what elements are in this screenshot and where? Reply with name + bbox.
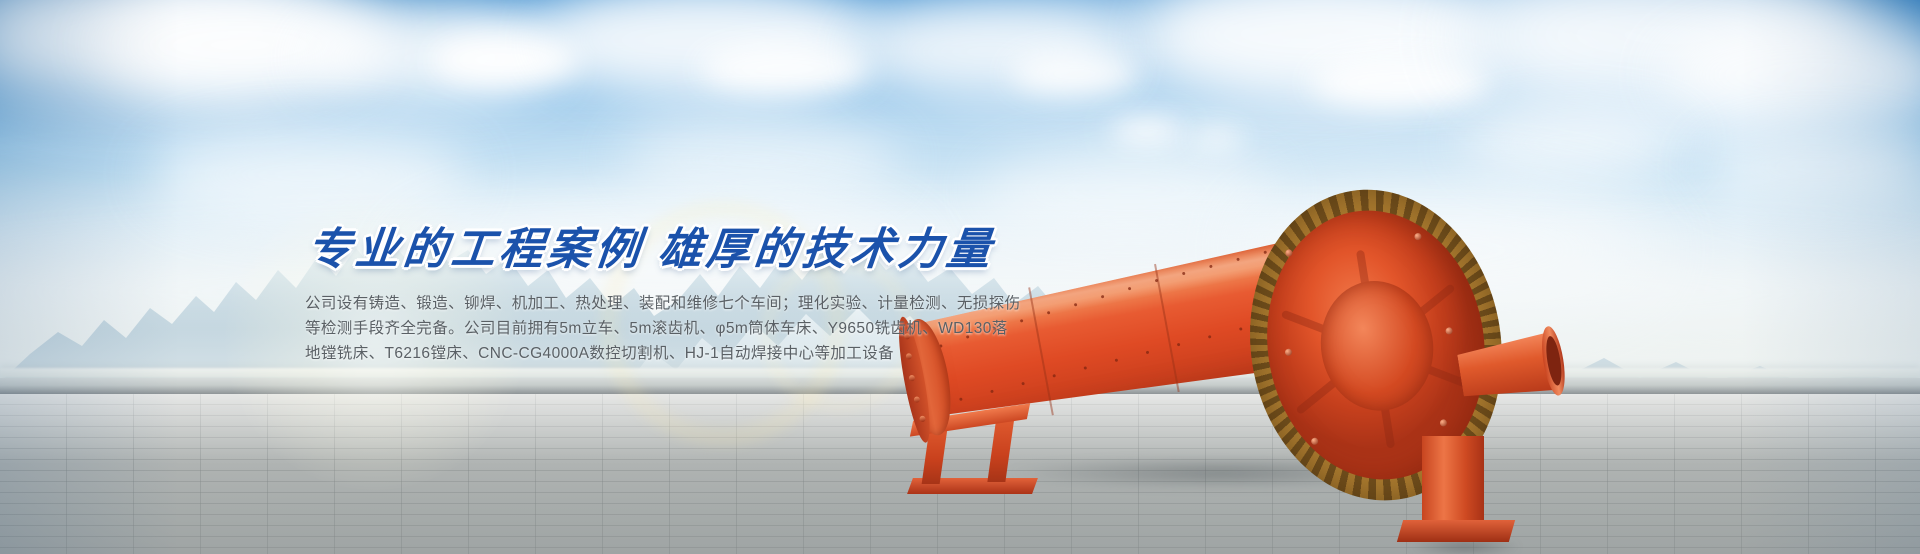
banner-body-text: 公司设有铸造、锻造、铆焊、机加工、热处理、装配和维修七个车间；理化实验、计量检测… bbox=[305, 291, 1285, 366]
banner-copy: 专业的工程案例 雄厚的技术力量 公司设有铸造、锻造、铆焊、机加工、热处理、装配和… bbox=[305, 228, 1285, 366]
banner-body-line-3: 地镗铣床、T6216镗床、CNC-CG4000A数控切割机、HJ-1自动焊接中心… bbox=[305, 341, 1285, 366]
pedestal-base bbox=[1397, 520, 1515, 542]
pedestal-column bbox=[1422, 436, 1484, 528]
banner-body-line-2: 等检测手段齐全完备。公司目前拥有5m立车、5m滚齿机、φ5m筒体车床、Y9650… bbox=[305, 316, 1285, 341]
mill-support-pedestal bbox=[1400, 436, 1520, 548]
banner-body-line-1: 公司设有铸造、锻造、铆焊、机加工、热处理、装配和维修七个车间；理化实验、计量检测… bbox=[305, 291, 1285, 316]
hero-banner: 专业的工程案例 雄厚的技术力量 公司设有铸造、锻造、铆焊、机加工、热处理、装配和… bbox=[0, 0, 1920, 554]
banner-headline: 专业的工程案例 雄厚的技术力量 bbox=[305, 228, 1290, 272]
